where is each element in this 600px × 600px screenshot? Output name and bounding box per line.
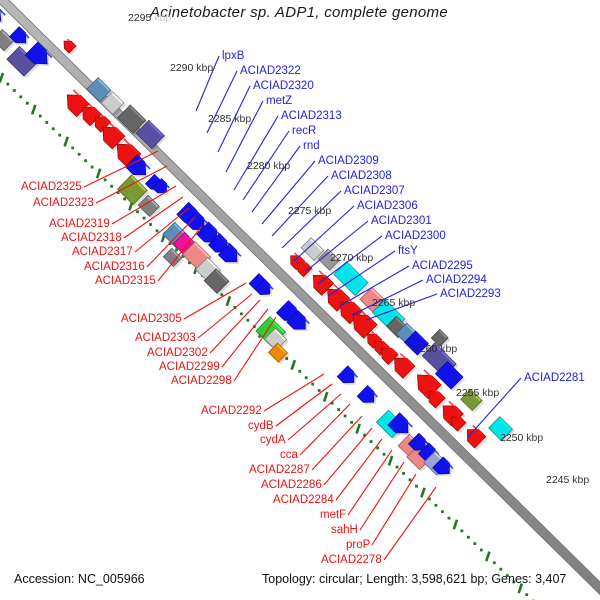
ruler-tick-2285: 2285 kbp [208, 113, 251, 125]
ruler-tick-unit: kbp [353, 252, 373, 264]
ruler-tick-unit: kbp [479, 387, 499, 399]
genome-summary-text: Topology: circular; Length: 3,598,621 bp… [262, 572, 566, 586]
gene-label-aciad2278[interactable]: ACIAD2278 [321, 554, 382, 566]
gene-label-aciad2308[interactable]: ACIAD2308 [331, 170, 392, 182]
gene-label-aciad2287[interactable]: ACIAD2287 [249, 464, 310, 476]
gene-label-aciad2293[interactable]: ACIAD2293 [440, 288, 501, 300]
gene-label-aciad2294[interactable]: ACIAD2294 [426, 274, 487, 286]
ruler-tick-value: 2285 [208, 113, 231, 125]
gene-feature[interactable] [467, 425, 488, 450]
gene-label-aciad2318[interactable]: ACIAD2318 [61, 232, 122, 244]
ruler-tick-unit: kbp [193, 62, 213, 74]
ruler-tick-unit: kbp [151, 12, 171, 24]
ruler-tick-unit: kbp [437, 343, 457, 355]
gene-label-recr[interactable]: recR [292, 125, 316, 137]
gene-label-aciad2303[interactable]: ACIAD2303 [135, 332, 196, 344]
ruler-tick-value: 2255 [456, 387, 479, 399]
ruler-tick-2265: 2265 kbp [372, 297, 415, 309]
gene-label-aciad2319[interactable]: ACIAD2319 [49, 218, 110, 230]
gene-feature[interactable] [64, 39, 78, 55]
ruler-tick-2290: 2290 kbp [170, 62, 213, 74]
label-leader-line [264, 374, 324, 411]
ruler-tick-unit: kbp [395, 297, 415, 309]
ruler-tick-value: 2295 [128, 12, 151, 24]
label-leader-line [348, 450, 392, 515]
label-leader-line [234, 116, 278, 190]
gene-label-prop[interactable]: proP [346, 539, 370, 551]
gene-label-aciad2320[interactable]: ACIAD2320 [253, 80, 314, 92]
gene-body[interactable] [395, 358, 415, 378]
gene-label-aciad2286[interactable]: ACIAD2286 [261, 479, 322, 491]
ruler-tick-value: 2245 [546, 474, 569, 486]
coordinate-ruler [0, 9, 587, 600]
ruler-tick-value: 2270 [330, 252, 353, 264]
ruler-tick-value: 2265 [372, 297, 395, 309]
gene-label-aciad2317[interactable]: ACIAD2317 [72, 246, 133, 258]
gene-label-sahh[interactable]: sahH [331, 524, 358, 536]
label-leader-line [222, 309, 268, 367]
gene-label-aciad2307[interactable]: ACIAD2307 [344, 185, 405, 197]
ruler-tick-value: 2280 [247, 160, 270, 172]
page-title: Acinetobacter sp. ADP1, complete genome [150, 4, 448, 21]
gene-label-lpxb[interactable]: lpxB [222, 50, 244, 62]
gene-feature[interactable] [452, 414, 468, 433]
gene-label-aciad2301[interactable]: ACIAD2301 [371, 215, 432, 227]
gene-label-aciad2323[interactable]: ACIAD2323 [33, 197, 94, 209]
gene-label-aciad2302[interactable]: ACIAD2302 [147, 347, 208, 359]
gene-label-aciad2300[interactable]: ACIAD2300 [385, 230, 446, 242]
ruler-tick-unit: kbp [270, 160, 290, 172]
label-leader-line [198, 294, 252, 338]
gene-label-aciad2281[interactable]: ACIAD2281 [524, 372, 585, 384]
genome-map-view: Acinetobacter sp. ADP1, complete genome … [0, 0, 600, 600]
gene-label-cydb[interactable]: cydB [248, 420, 274, 432]
ruler-tick-2295: 2295 kbp [128, 12, 171, 24]
gene-label-aciad2299[interactable]: ACIAD2299 [159, 361, 220, 373]
gene-label-cyda[interactable]: cydA [260, 434, 286, 446]
ruler-tick-2245: 2245 kbp [546, 474, 589, 486]
gene-label-aciad2313[interactable]: ACIAD2313 [281, 110, 342, 122]
ruler-tick-value: 2290 [170, 62, 193, 74]
gene-body[interactable] [357, 386, 374, 403]
gene-body[interactable] [337, 366, 354, 383]
accession-text: Accession: NC_005966 [14, 572, 145, 586]
gene-label-aciad2322[interactable]: ACIAD2322 [240, 65, 301, 77]
ruler-tick-2270: 2270 kbp [330, 252, 373, 264]
gene-label-rnd[interactable]: rnd [303, 140, 320, 152]
gene-label-aciad2292[interactable]: ACIAD2292 [201, 405, 262, 417]
label-leader-line [300, 404, 350, 455]
gene-label-ftsy[interactable]: ftsY [398, 245, 418, 257]
gene-label-aciad2295[interactable]: ACIAD2295 [412, 260, 473, 272]
ruler-tick-value: 2275 [288, 205, 311, 217]
gene-label-metz[interactable]: metZ [266, 95, 292, 107]
ruler-tick-unit: kbp [569, 474, 589, 486]
gene-label-aciad2325[interactable]: ACIAD2325 [21, 181, 82, 193]
gene-label-aciad2298[interactable]: ACIAD2298 [171, 375, 232, 387]
ruler-tick-unit: kbp [311, 205, 331, 217]
ruler-tick-2275: 2275 kbp [288, 205, 331, 217]
gene-label-metf[interactable]: metF [320, 509, 346, 521]
ruler-tick-value: 2260 [414, 343, 437, 355]
gene-label-aciad2316[interactable]: ACIAD2316 [84, 261, 145, 273]
ruler-tick-value: 2250 [500, 432, 523, 444]
label-leader-line [372, 474, 416, 545]
gene-body[interactable] [467, 430, 485, 448]
ruler-tick-2280: 2280 kbp [247, 160, 290, 172]
label-leader-line [384, 487, 436, 560]
gene-label-aciad2315[interactable]: ACIAD2315 [95, 275, 156, 287]
gene-feature[interactable] [337, 366, 357, 385]
label-leader-line [336, 439, 382, 500]
label-leader-line [360, 462, 404, 530]
gene-label-aciad2284[interactable]: ACIAD2284 [273, 494, 334, 506]
gene-feature[interactable] [298, 260, 314, 279]
ruler-tick-2255: 2255 kbp [456, 387, 499, 399]
ruler-tick-2250: 2250 kbp [500, 432, 543, 444]
label-leader-line [312, 416, 362, 470]
gene-label-cca[interactable]: cca [280, 449, 298, 461]
label-leader-line [324, 428, 372, 485]
ruler-tick-2260: 2260 kbp [414, 343, 457, 355]
gene-label-aciad2309[interactable]: ACIAD2309 [318, 155, 379, 167]
gene-feature[interactable] [357, 386, 377, 405]
label-leader-line [288, 394, 341, 440]
gene-label-aciad2306[interactable]: ACIAD2306 [357, 200, 418, 212]
ruler-tick-unit: kbp [523, 432, 543, 444]
gene-label-aciad2305[interactable]: ACIAD2305 [121, 313, 182, 325]
ruler-tick-unit: kbp [231, 113, 251, 125]
label-leader-line [252, 146, 300, 212]
label-leader-line [276, 384, 332, 426]
